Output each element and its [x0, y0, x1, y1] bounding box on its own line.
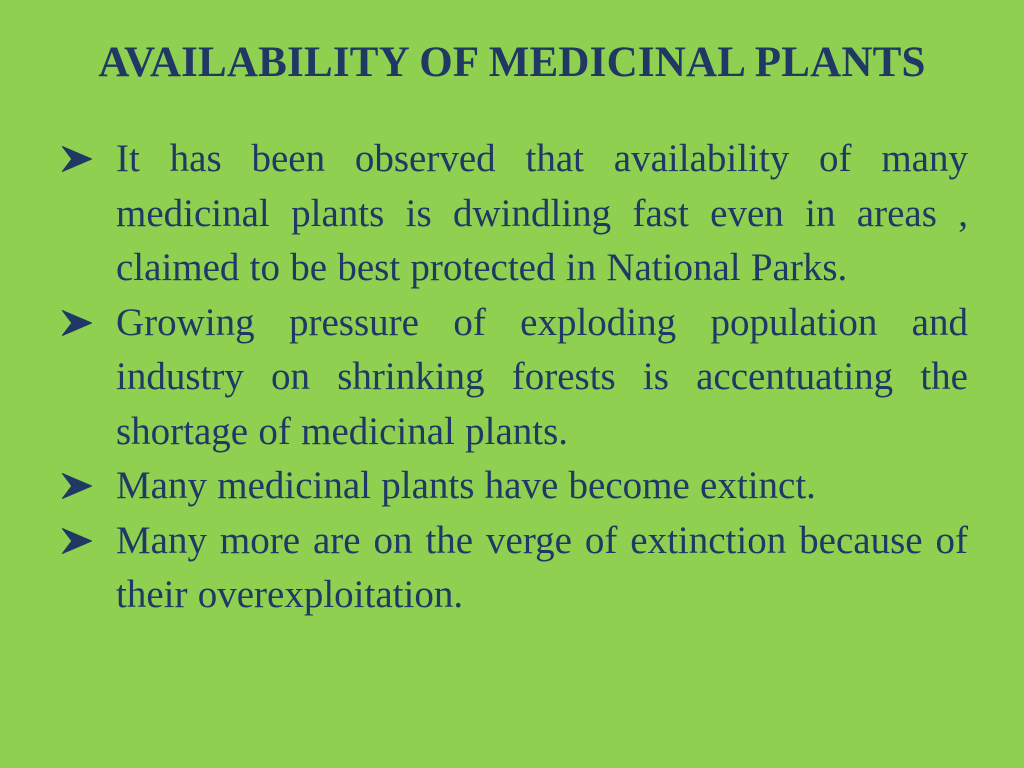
list-item: Growing pressure of exploding population… — [60, 296, 968, 460]
bullet-list: It has been observed that availability o… — [60, 132, 968, 623]
list-item-label: Many more are on the verge of extinction… — [116, 514, 968, 623]
page-title: AVAILABILITY OF MEDICINAL PLANTS — [40, 38, 984, 88]
list-item: Many more are on the verge of extinction… — [60, 514, 968, 623]
presentation-slide: AVAILABILITY OF MEDICINAL PLANTS It has … — [0, 0, 1024, 768]
arrowhead-bullet-icon — [62, 132, 102, 187]
arrowhead-bullet-icon — [62, 459, 102, 514]
arrowhead-bullet-icon — [62, 296, 102, 351]
list-item: It has been observed that availability o… — [60, 132, 968, 296]
list-item-label: Many medicinal plants have become extinc… — [116, 459, 968, 514]
list-item-label: Growing pressure of exploding population… — [116, 296, 968, 460]
list-item: Many medicinal plants have become extinc… — [60, 459, 968, 514]
list-item-label: It has been observed that availability o… — [116, 132, 968, 296]
arrowhead-bullet-icon — [62, 514, 102, 569]
